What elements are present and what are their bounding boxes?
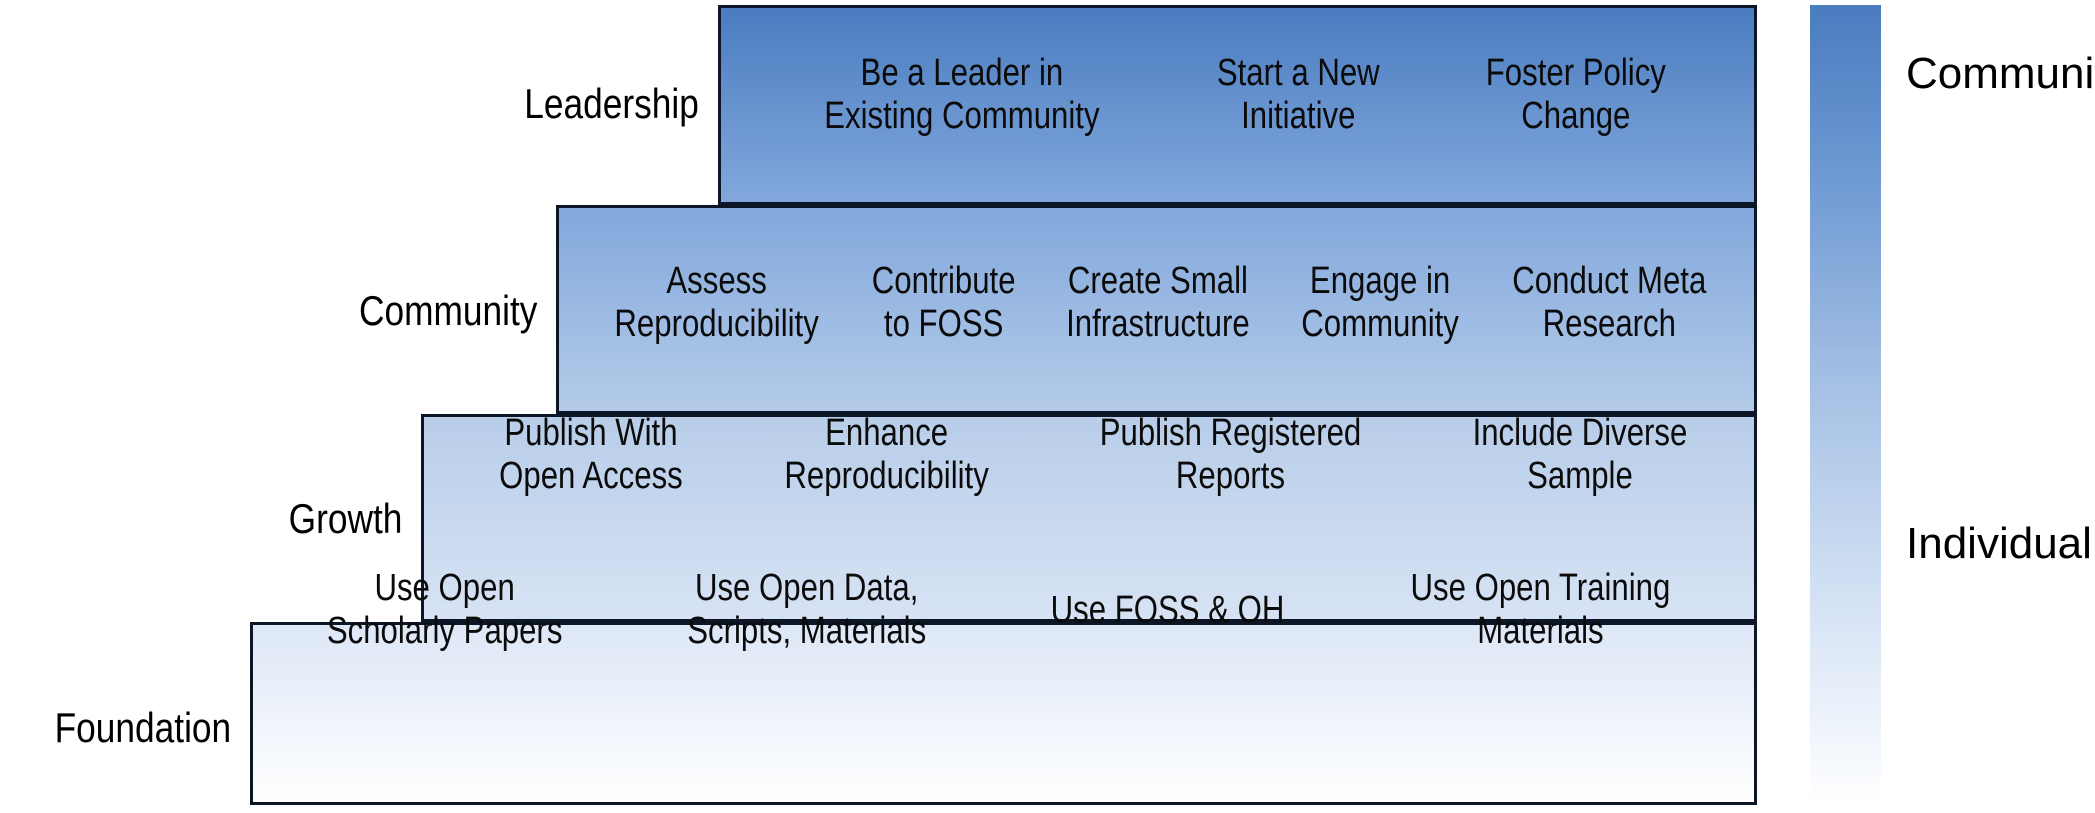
tier-label-leadership: Leadership bbox=[524, 83, 699, 125]
tier-label-foundation: Foundation bbox=[54, 707, 231, 749]
legend-label-community: Community bbox=[1906, 52, 2095, 96]
tier-label-community: Community bbox=[359, 290, 537, 332]
tier-label-growth: Growth bbox=[288, 498, 402, 540]
tier-block-growth bbox=[421, 414, 1757, 622]
tier-block-community bbox=[556, 205, 1757, 414]
tier-block-foundation bbox=[250, 622, 1757, 805]
diagram-canvas: Leadership Be a Leader in Existing Commu… bbox=[0, 0, 2095, 813]
legend-label-individual: Individual bbox=[1906, 522, 2092, 566]
legend-gradient-bar bbox=[1810, 5, 1881, 805]
tier-block-leadership bbox=[718, 5, 1757, 205]
